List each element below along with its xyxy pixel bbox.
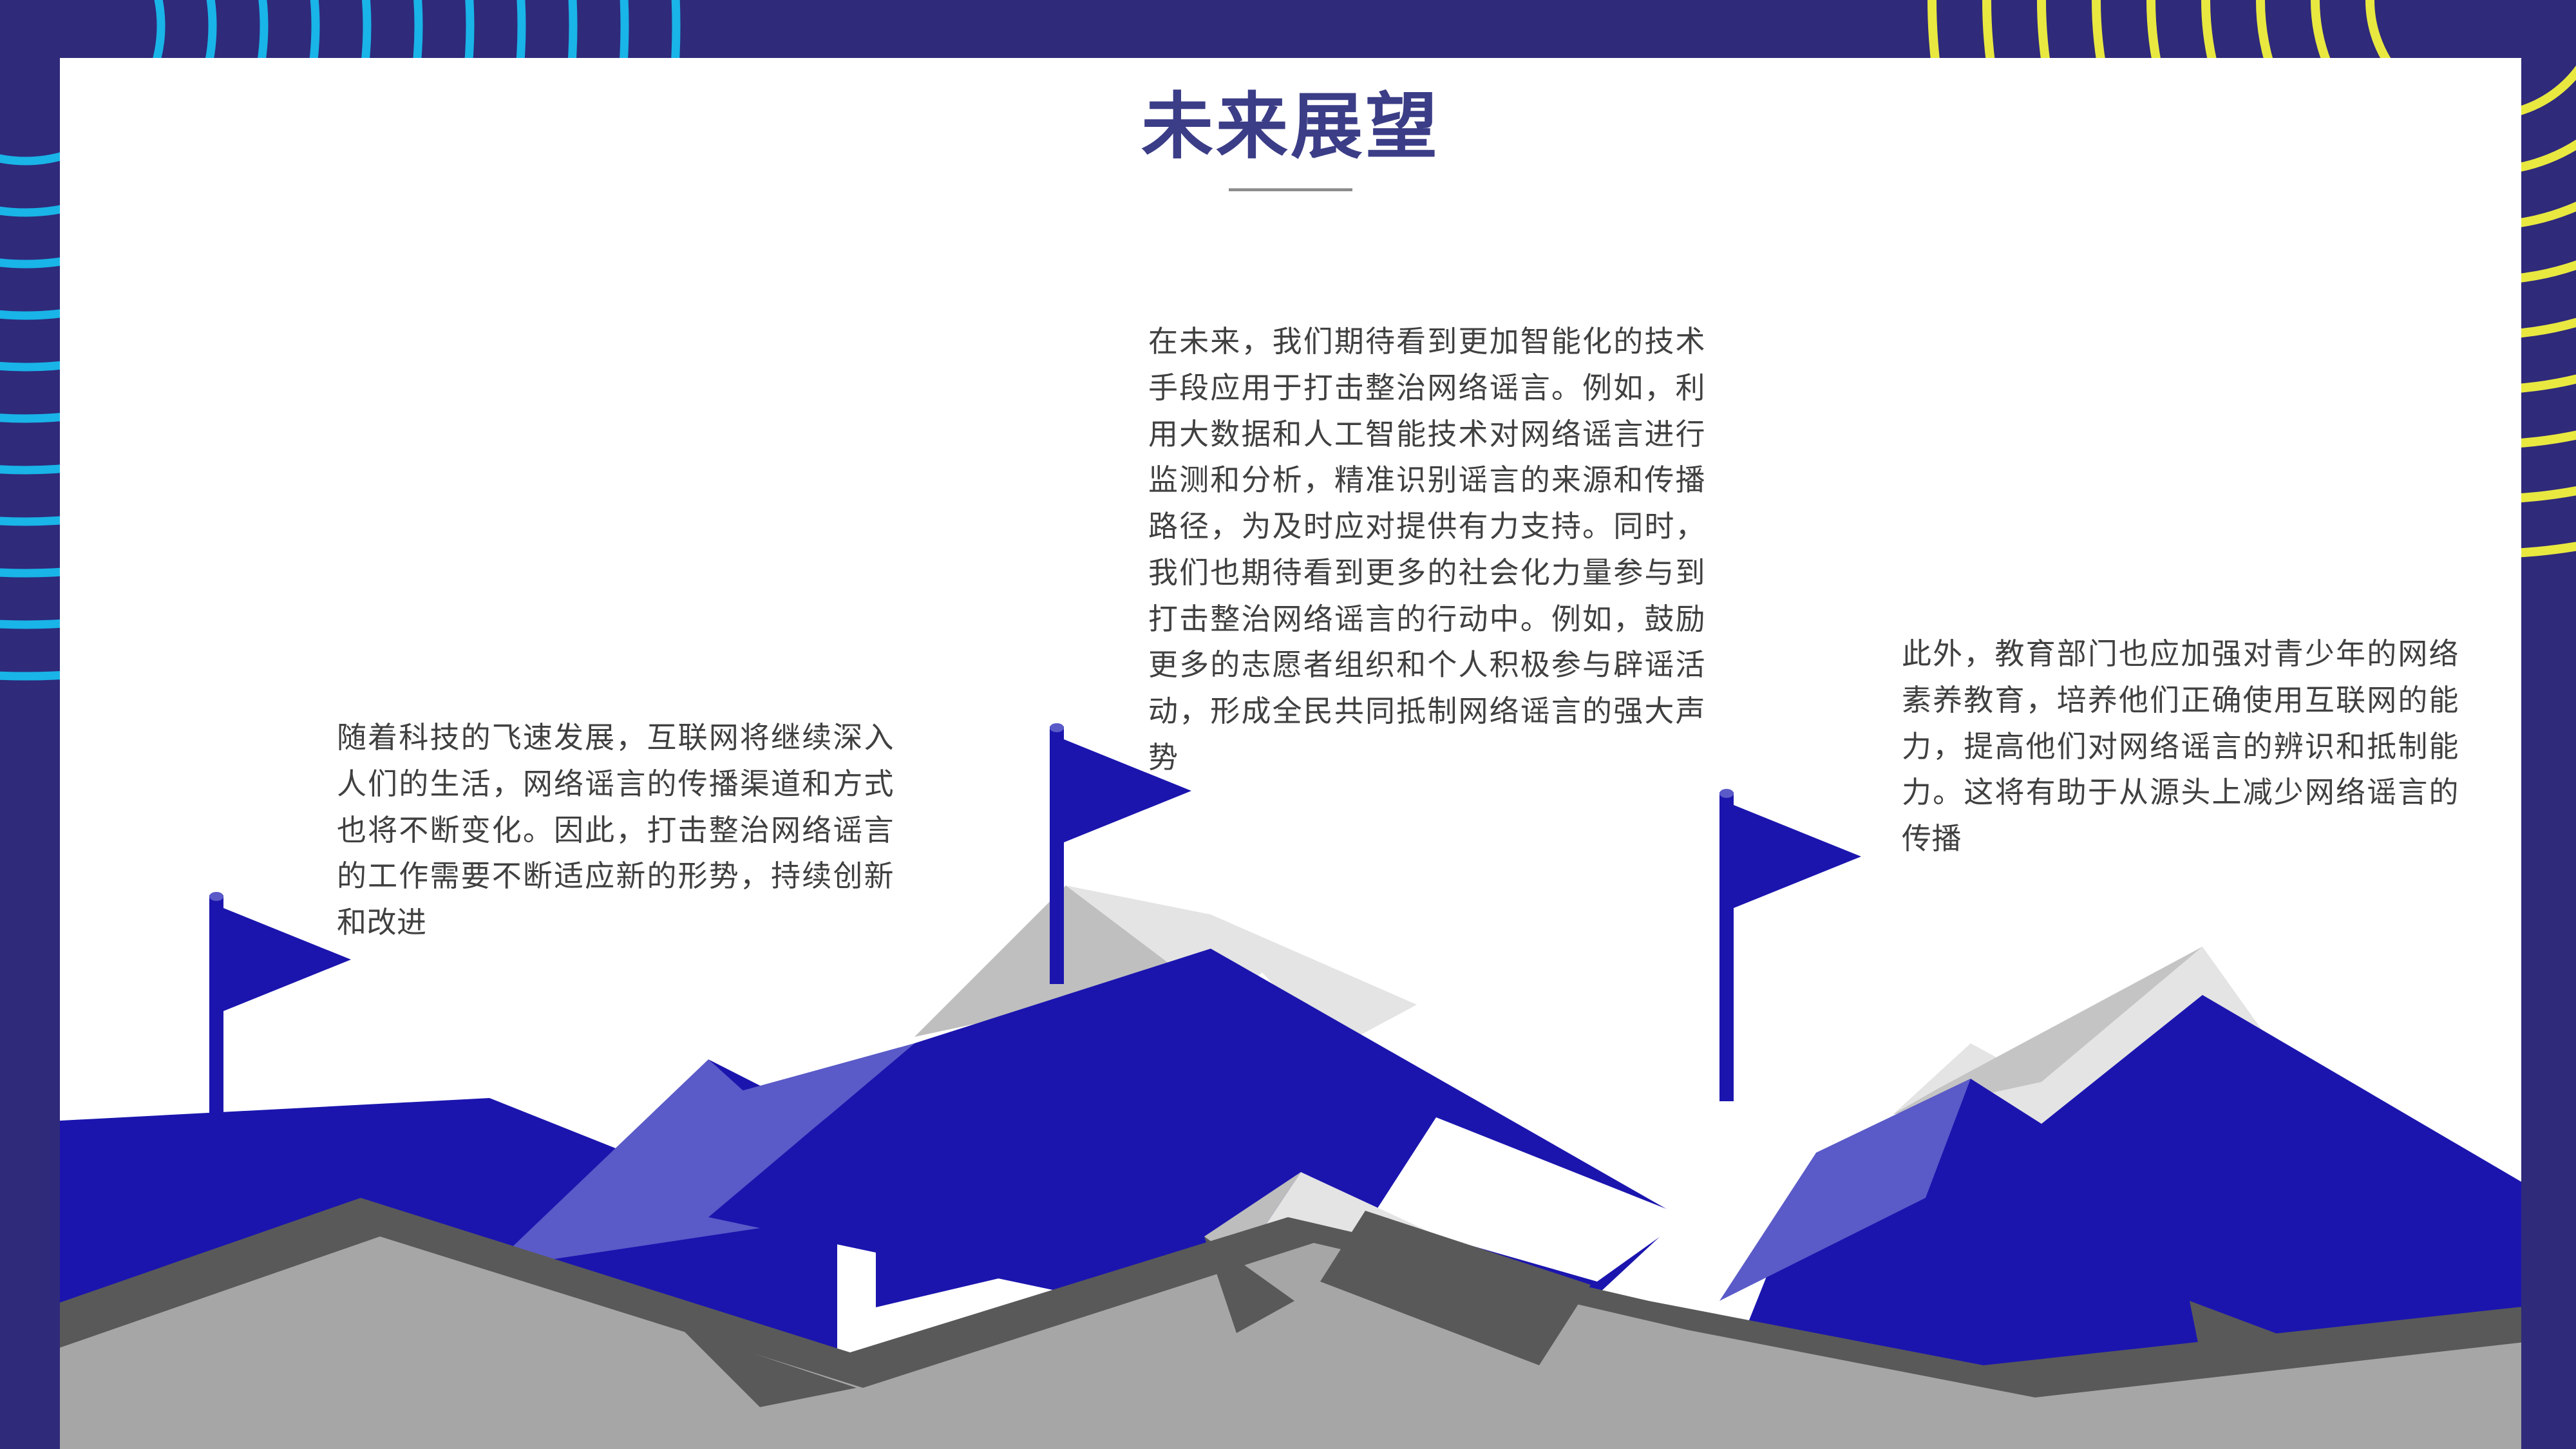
title-block: 未来展望	[60, 58, 2521, 191]
ground-wedge-left	[683, 1330, 857, 1407]
mountain-right-snowcap-shadow	[1893, 947, 2202, 1114]
mountain-mid-white-peak	[1372, 1117, 1687, 1282]
mountain-left-body	[60, 1098, 837, 1449]
mountain-mid-grey-peak-light	[1236, 1172, 1481, 1301]
paragraph-left: 随着科技的飞速发展，互联网将继续深入人们的生活，网络谣言的传播渠道和方式也将不断…	[337, 715, 894, 946]
mountain-center-snowcap-shadow	[914, 885, 1224, 1037]
ground-wedge-center	[1204, 1236, 1294, 1333]
mountain-right-body	[1674, 995, 2521, 1449]
ground-wedge-farright	[2190, 1301, 2293, 1365]
mountain-mid-grey-peak-shadow	[1204, 1172, 1301, 1269]
page-title: 未来展望	[60, 89, 2521, 165]
content-card: 未来展望	[60, 58, 2521, 1449]
ground-shadow-band	[60, 1198, 2521, 1449]
paragraph-center: 在未来，我们期待看到更加智能化的技术手段应用于打击整治网络谣言。例如，利用大数据…	[1148, 319, 1705, 781]
ground-foreground	[60, 1236, 2521, 1449]
ground-wedge-right	[1320, 1211, 1591, 1365]
title-divider	[1229, 188, 1352, 191]
mountain-right-snowcap-light	[1893, 947, 2267, 1140]
paragraph-right: 此外，教育部门也应加强对青少年的网络素养教育，培养他们正确使用互联网的能力，提高…	[1902, 631, 2459, 862]
mountain-center-lit-face	[657, 1043, 914, 1217]
mountain-left-lit-face	[489, 1059, 876, 1269]
mountain-center-snowcap	[1066, 885, 1417, 1050]
flag-right	[1719, 789, 1861, 1101]
flag-left	[209, 892, 351, 1172]
mountain-center-body	[708, 949, 1681, 1385]
mountain-right-lit-face	[1719, 1079, 1971, 1301]
mountain-left-body-right	[708, 1059, 1095, 1307]
